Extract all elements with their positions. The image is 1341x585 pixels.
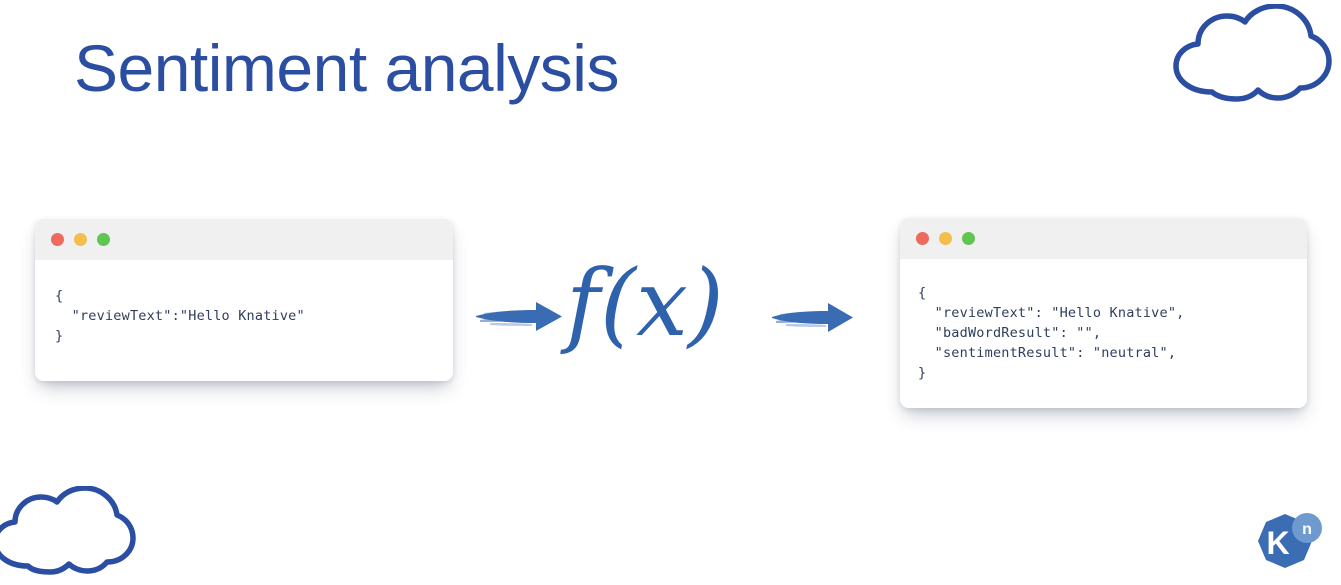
code-body: { "reviewText": "Hello Knative", "badWor… — [900, 259, 1307, 408]
maximize-dot-icon[interactable] — [962, 232, 975, 245]
knative-logo-superscript: n — [1302, 521, 1312, 538]
code-line: } — [55, 326, 433, 346]
cloud-top-right-icon — [1168, 4, 1333, 114]
output-json-window: { "reviewText": "Hello Knative", "badWor… — [900, 218, 1307, 408]
cloud-bottom-left-icon — [0, 486, 138, 585]
code-line: "sentimentResult": "neutral", — [918, 343, 1287, 363]
code-line: { — [918, 283, 1287, 303]
knative-logo: K n — [1258, 512, 1324, 579]
arrow-function-to-output-icon — [770, 300, 855, 341]
code-line: "reviewText":"Hello Knative" — [55, 306, 433, 326]
close-dot-icon[interactable] — [51, 233, 64, 246]
close-dot-icon[interactable] — [916, 232, 929, 245]
function-symbol: f(x) — [566, 258, 724, 350]
code-body: { "reviewText":"Hello Knative" } — [35, 260, 453, 381]
knative-logo-letter: K — [1266, 525, 1289, 561]
slide-canvas: Sentiment analysis { "reviewText":"Hello… — [0, 0, 1341, 585]
code-line: "reviewText": "Hello Knative", — [918, 303, 1287, 323]
arrow-input-to-function-icon — [474, 298, 564, 341]
code-line: { — [55, 286, 433, 306]
minimize-dot-icon[interactable] — [74, 233, 87, 246]
window-titlebar — [35, 219, 453, 260]
minimize-dot-icon[interactable] — [939, 232, 952, 245]
page-title: Sentiment analysis — [74, 31, 619, 107]
code-line: "badWordResult": "", — [918, 323, 1287, 343]
maximize-dot-icon[interactable] — [97, 233, 110, 246]
window-titlebar — [900, 218, 1307, 259]
input-json-window: { "reviewText":"Hello Knative" } — [35, 219, 453, 381]
code-line: } — [918, 363, 1287, 383]
